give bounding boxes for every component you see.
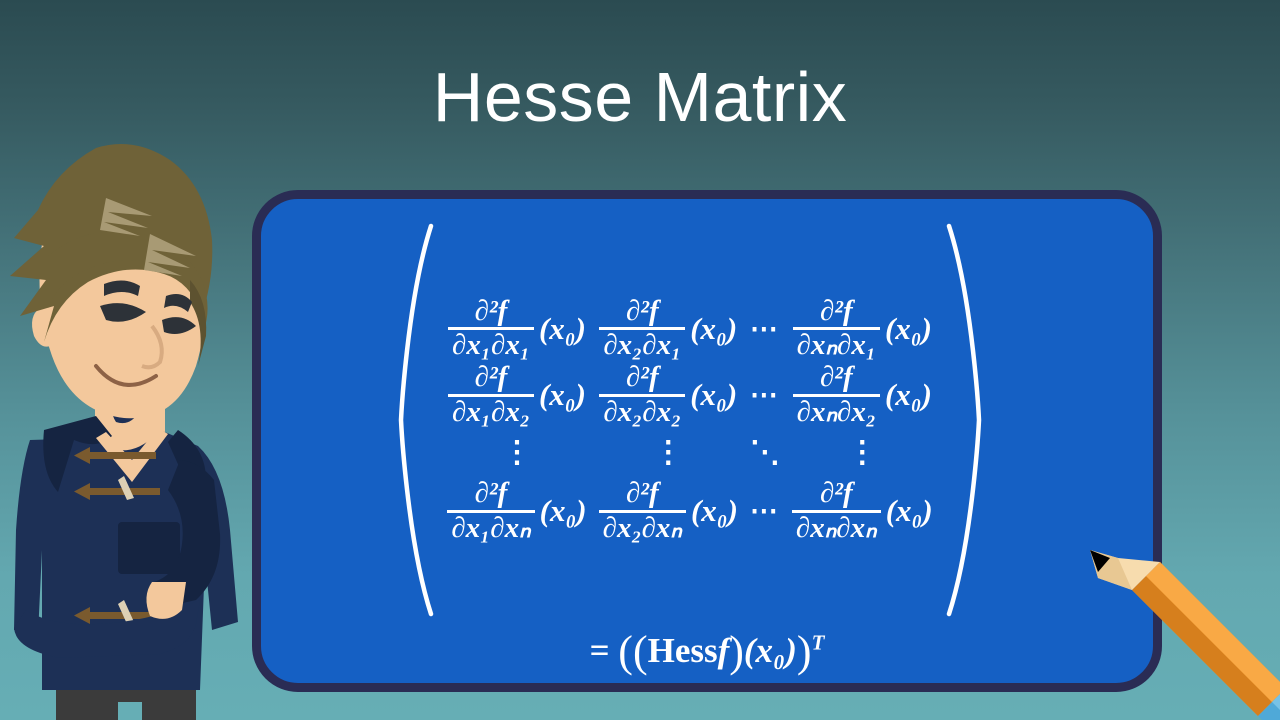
matrix-row: ∂²f ∂x₁∂x₁ (x₀) ∂²f ∂x₂∂x₁ xyxy=(441,296,938,362)
outer-open-paren: ( xyxy=(618,627,633,676)
matrix-cell: ∂²f ∂x₁∂x₂ (x₀) xyxy=(441,362,592,428)
cell-numerator: ∂²f xyxy=(622,296,663,328)
matrix-cell: ∂²f ∂xₙ∂x₁ (x₀) xyxy=(786,296,939,362)
cell-argument: (x₀) xyxy=(539,377,586,413)
matrix-right-bracket-icon xyxy=(943,220,983,620)
diagonal-ellipsis-icon: ⋱ xyxy=(750,436,780,469)
coat-toggle-icon xyxy=(74,600,180,624)
character-left-arm xyxy=(14,600,200,658)
matrix-cell-ellipsis: ⋯ xyxy=(744,296,786,362)
character-right-arm xyxy=(152,460,220,610)
matrix-cell-ellipsis: ⋮ xyxy=(593,428,744,478)
cell-argument: (x₀) xyxy=(885,311,932,347)
character-hood-right xyxy=(168,430,206,482)
character-hair-sweep xyxy=(48,231,208,330)
cell-denominator: ∂x₂∂xₙ xyxy=(599,513,686,545)
cell-argument: (x₀) xyxy=(690,311,737,347)
pencil-ferrule-highlight xyxy=(1272,688,1280,720)
matrix-cell: ∂²f ∂x₂∂xₙ (x₀) xyxy=(593,478,744,544)
matrix-cell: ∂²f ∂xₙ∂x₂ (x₀) xyxy=(786,362,939,428)
character-neck xyxy=(95,370,165,451)
character-eyebrow-left xyxy=(104,280,140,296)
character-nose xyxy=(142,326,162,367)
transpose-exponent: T xyxy=(812,630,825,654)
vertical-ellipsis-icon: ⋮ xyxy=(653,436,683,469)
matrix-cell: ∂²f ∂xₙ∂xₙ (x₀) xyxy=(786,478,939,544)
cell-numerator: ∂²f xyxy=(622,362,663,394)
function-symbol: f xyxy=(718,631,730,670)
horizontal-ellipsis-icon: ⋯ xyxy=(750,380,780,411)
matrix-cell: ∂²f ∂x₁∂x₁ (x₀) xyxy=(441,296,592,362)
character-eyebrow-right xyxy=(164,294,192,312)
horizontal-ellipsis-icon: ⋯ xyxy=(750,496,780,527)
matrix-row-ellipsis: ⋮ ⋮ ⋱ ⋮ xyxy=(441,428,938,478)
matrix-row: ∂²f ∂x₁∂xₙ (x₀) ∂²f ∂x₂∂xₙ xyxy=(441,478,938,544)
matrix-left-bracket-icon xyxy=(397,220,437,620)
cell-denominator: ∂x₂∂x₂ xyxy=(599,397,685,429)
matrix-cell: ∂²f ∂x₂∂x₂ (x₀) xyxy=(593,362,744,428)
cell-argument: (x₀) xyxy=(886,493,933,529)
pencil-body-highlight xyxy=(1146,562,1280,702)
matrix-cell: ∂²f ∂x₁∂xₙ (x₀) xyxy=(441,478,592,544)
cell-argument: (x₀) xyxy=(691,493,738,529)
coat-toggle-icon xyxy=(74,476,160,500)
character-thumb-shadow xyxy=(112,394,136,423)
cell-numerator: ∂²f xyxy=(622,478,663,510)
inner-close-paren: ) xyxy=(729,627,744,676)
evaluation-point: (x₀) xyxy=(744,631,797,670)
result-equation: = ((Hessf)(x₀))T xyxy=(252,626,1162,677)
character-ear xyxy=(32,308,54,347)
cell-argument: (x₀) xyxy=(540,493,587,529)
pencil-eraser xyxy=(1276,706,1280,720)
matrix-cell-ellipsis: ⋯ xyxy=(744,478,786,544)
matrix-cell-ellipsis: ⋮ xyxy=(441,428,592,478)
character-hand xyxy=(146,582,186,619)
character-eye-right xyxy=(162,317,196,334)
character-eye-left xyxy=(100,303,146,322)
cell-denominator: ∂xₙ∂x₂ xyxy=(793,397,880,429)
cell-numerator: ∂²f xyxy=(816,296,857,328)
hess-operator: Hess xyxy=(648,631,718,670)
cell-denominator: ∂x₁∂xₙ xyxy=(447,513,534,545)
hair-highlight-icon xyxy=(100,198,196,276)
cell-argument: (x₀) xyxy=(539,311,586,347)
character-coat xyxy=(14,430,238,690)
equals-sign: = xyxy=(590,631,610,670)
character-pocket xyxy=(118,522,180,574)
cell-numerator: ∂²f xyxy=(816,362,857,394)
matrix-cell-ellipsis: ⋱ xyxy=(744,428,786,478)
character-mouth xyxy=(96,366,156,385)
character-hair xyxy=(10,144,212,342)
page-title: Hesse Matrix xyxy=(0,62,1280,132)
cell-numerator: ∂²f xyxy=(816,478,857,510)
outer-close-paren: ) xyxy=(797,627,812,676)
cell-denominator: ∂x₁∂x₂ xyxy=(448,397,534,429)
vertical-ellipsis-icon: ⋮ xyxy=(502,436,532,469)
character-hair-strand xyxy=(190,280,206,366)
slide-canvas: Hesse Matrix ∂²f ∂x₁∂x₁ xyxy=(0,0,1280,720)
cell-numerator: ∂²f xyxy=(471,296,512,328)
vertical-ellipsis-icon: ⋮ xyxy=(847,436,877,469)
cell-numerator: ∂²f xyxy=(471,478,512,510)
matrix-grid: ∂²f ∂x₁∂x₁ (x₀) ∂²f ∂x₂∂x₁ xyxy=(441,296,938,544)
matrix-cell-ellipsis: ⋯ xyxy=(744,362,786,428)
character-chin-hand xyxy=(109,392,154,439)
coat-toggle-icon xyxy=(74,447,156,464)
matrix-cell-ellipsis: ⋮ xyxy=(786,428,939,478)
horizontal-ellipsis-icon: ⋯ xyxy=(750,314,780,345)
cell-denominator: ∂xₙ∂xₙ xyxy=(792,513,881,545)
character-collar-gap xyxy=(96,428,168,482)
matrix-cell: ∂²f ∂x₂∂x₁ (x₀) xyxy=(593,296,744,362)
cell-numerator: ∂²f xyxy=(471,362,512,394)
cell-denominator: ∂x₁∂x₁ xyxy=(448,330,534,362)
cell-denominator: ∂xₙ∂x₁ xyxy=(793,330,880,362)
matrix-row: ∂²f ∂x₁∂x₂ (x₀) ∂²f ∂x₂∂x₂ xyxy=(441,362,938,428)
cell-argument: (x₀) xyxy=(885,377,932,413)
cell-denominator: ∂x₂∂x₁ xyxy=(599,330,685,362)
inner-open-paren: ( xyxy=(633,627,648,676)
character-hood xyxy=(43,416,112,492)
cell-argument: (x₀) xyxy=(690,377,737,413)
character-face xyxy=(40,194,206,418)
character-pants xyxy=(56,690,196,720)
hesse-matrix-formula: ∂²f ∂x₁∂x₁ (x₀) ∂²f ∂x₂∂x₁ xyxy=(225,205,1155,635)
character-pants-gap xyxy=(118,702,142,720)
pencil-ferrule xyxy=(1258,688,1280,720)
